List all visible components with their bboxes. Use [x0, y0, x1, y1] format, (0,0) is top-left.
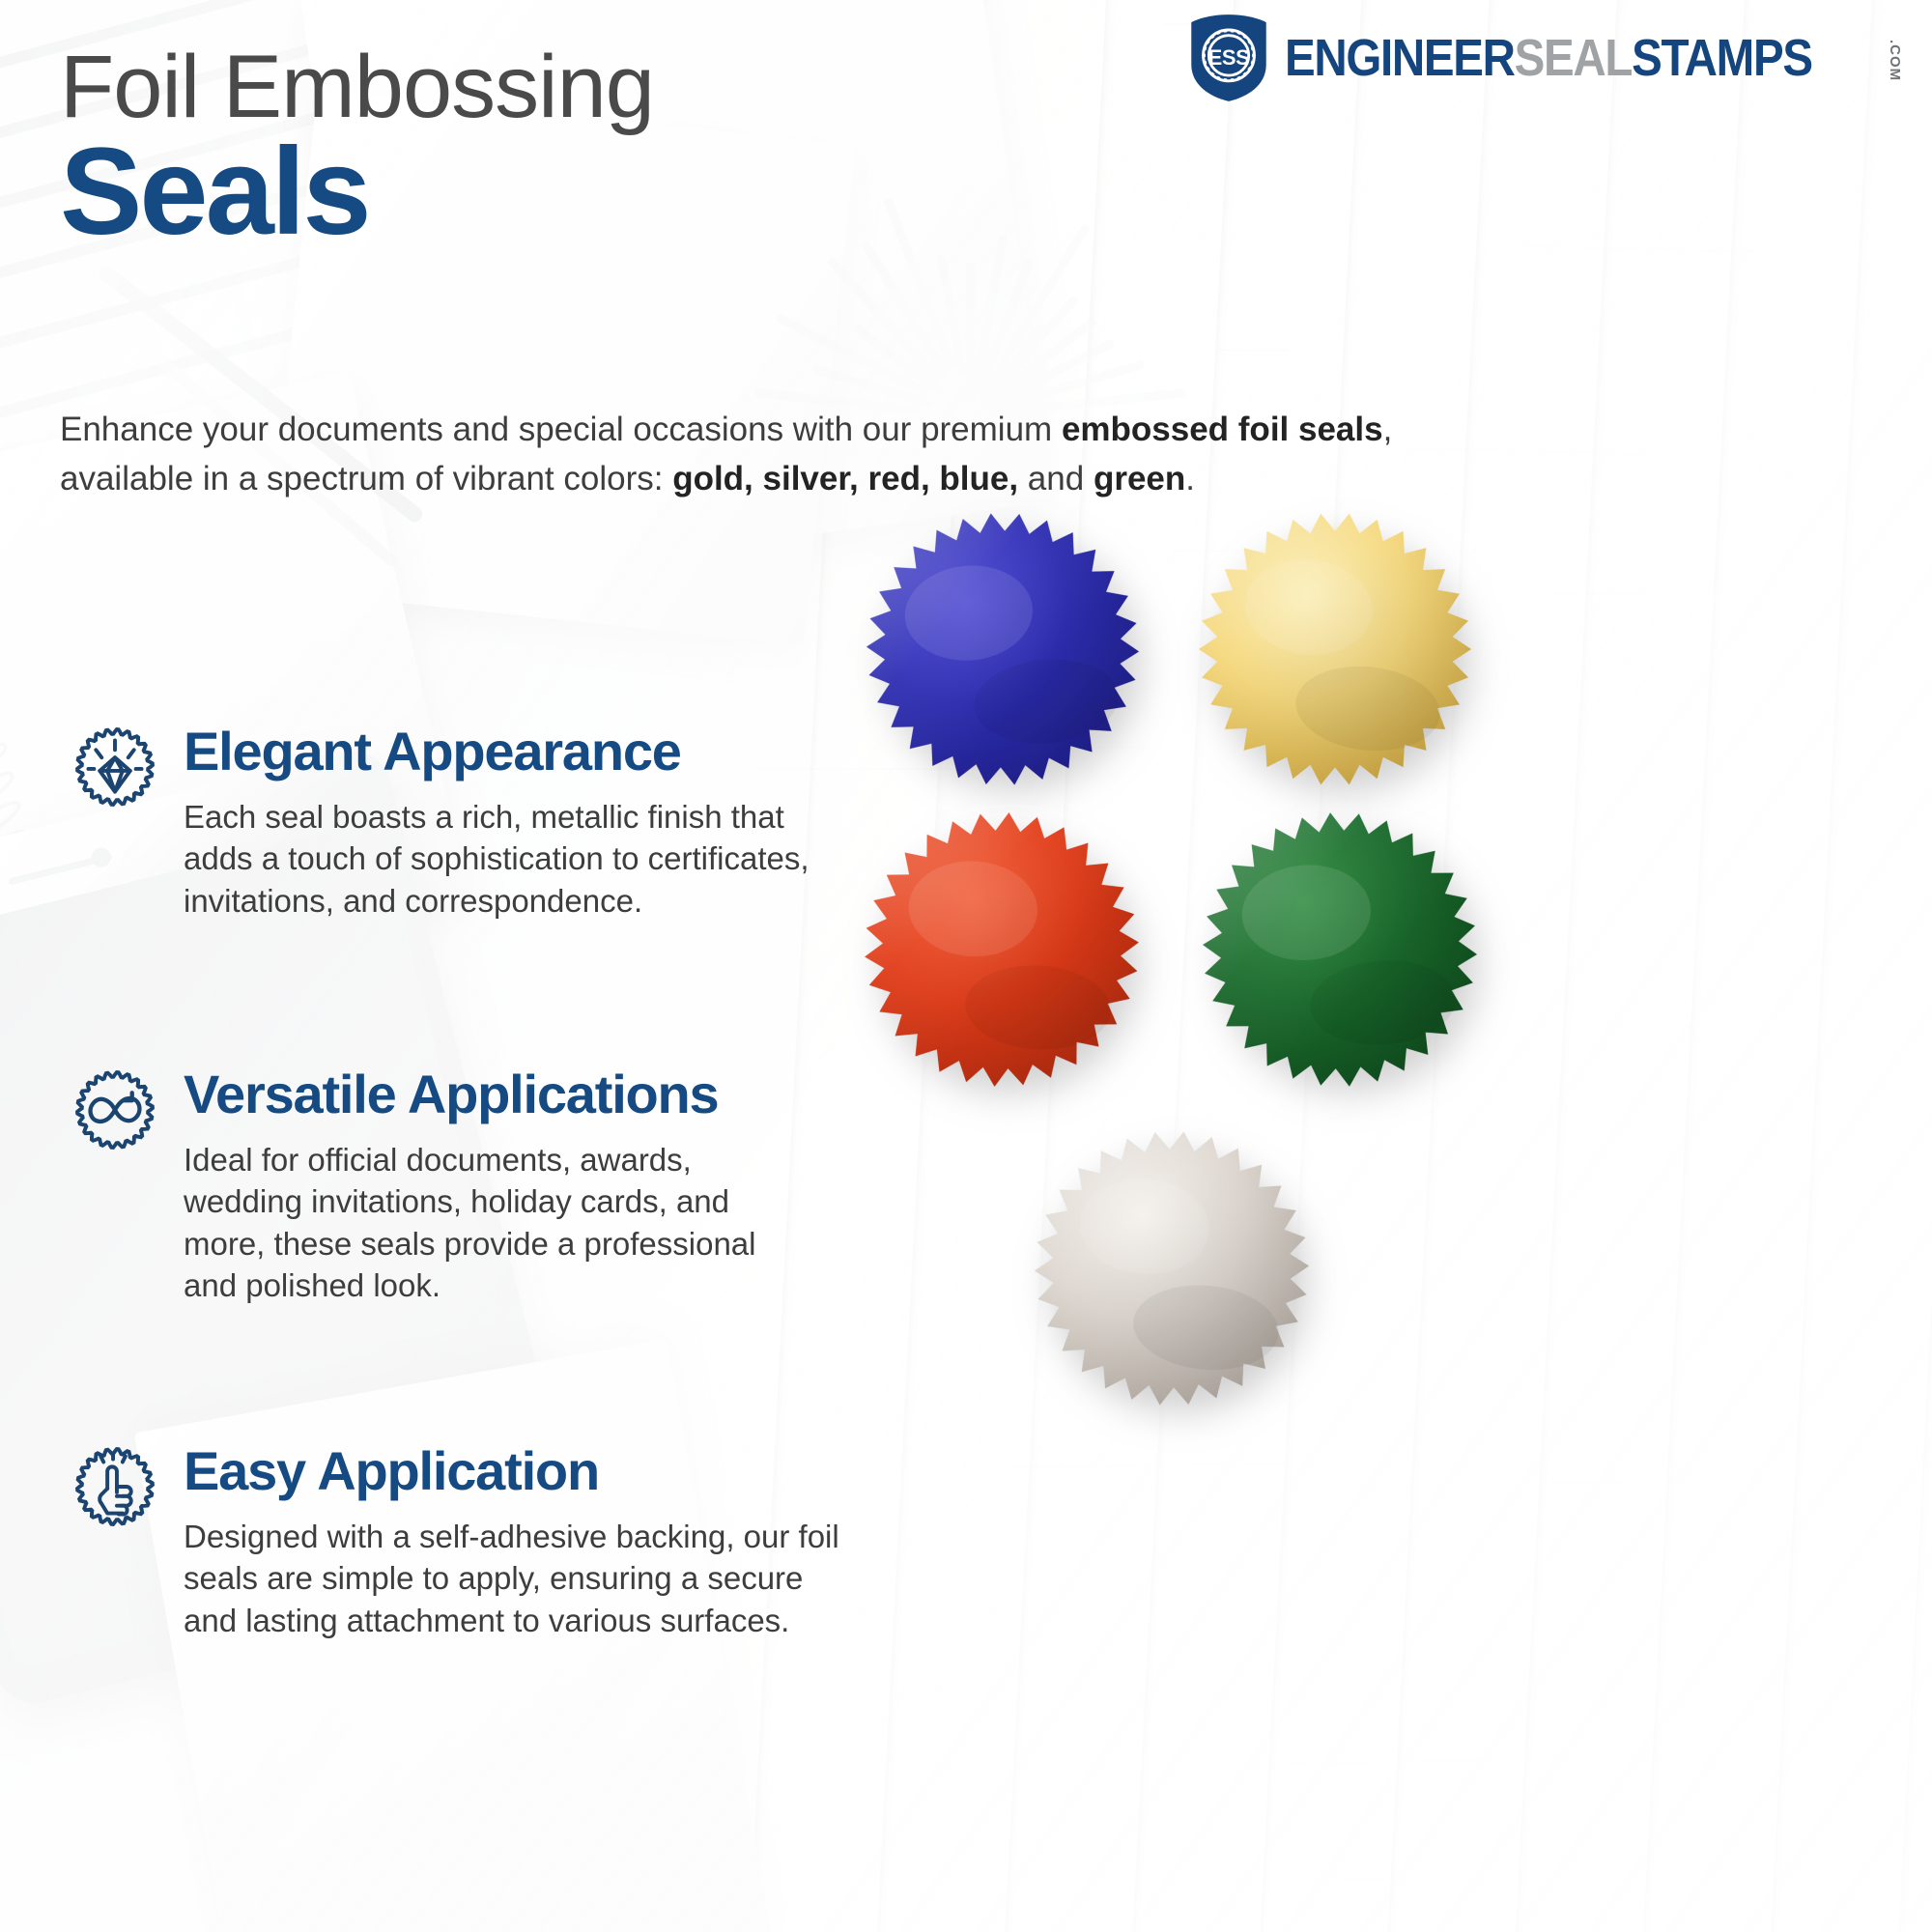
seal-disc-blue — [837, 497, 1169, 802]
seal-disc-red — [836, 802, 1169, 1098]
feature-body: Versatile Applications Ideal for officia… — [184, 1066, 869, 1307]
seal-green — [1171, 799, 1508, 1100]
logo-word-seal: SEAL — [1515, 29, 1632, 87]
brand-wordmark: ENGINEERSEALSTAMPS .COM — [1285, 32, 1903, 84]
diamond-icon — [58, 710, 172, 824]
page-title-line1: Foil Embossing — [60, 43, 654, 131]
brand-logo[interactable]: ESS ENGINEERSEALSTAMPS .COM — [1186, 14, 1903, 102]
logo-tld: .COM — [1887, 40, 1903, 81]
feature-heading: Elegant Appearance — [184, 724, 869, 781]
page-title-line2: Seals — [60, 130, 369, 254]
feature-elegant-appearance: Elegant Appearance Each seal boasts a ri… — [58, 710, 869, 922]
seal-disc-green — [1171, 799, 1508, 1100]
seal-disc-gold — [1167, 495, 1503, 804]
feature-body: Easy Application Designed with a self-ad… — [184, 1443, 869, 1641]
feature-body: Elegant Appearance Each seal boasts a ri… — [184, 724, 869, 922]
feature-heading: Easy Application — [184, 1443, 869, 1500]
intro-text-3: and — [1018, 460, 1094, 497]
svg-text:ESS: ESS — [1208, 45, 1250, 70]
intro-text-4: . — [1185, 460, 1195, 497]
logo-word-stamps: STAMPS — [1632, 29, 1812, 87]
feature-easy-application: Easy Application Designed with a self-ad… — [58, 1430, 869, 1641]
feature-versatile-applications: Versatile Applications Ideal for officia… — [58, 1053, 869, 1307]
logo-word-engineer: ENGINEER — [1285, 29, 1515, 87]
tap-hand-icon — [58, 1430, 172, 1544]
seal-blue — [837, 497, 1169, 802]
intro-bold-embossed-foil-seals: embossed foil seals — [1062, 411, 1383, 448]
infinity-icon — [58, 1053, 172, 1167]
ess-gear-badge-icon: ESS — [1186, 14, 1271, 102]
intro-bold-green: green — [1094, 460, 1185, 497]
feature-heading: Versatile Applications — [184, 1066, 869, 1123]
intro-paragraph: Enhance your documents and special occas… — [60, 406, 1432, 504]
seal-red — [836, 802, 1169, 1098]
feature-text: Designed with a self-adhesive backing, o… — [184, 1516, 869, 1642]
intro-bold-colors: gold, silver, red, blue, — [672, 460, 1018, 497]
seal-gold — [1167, 495, 1503, 804]
seal-silver — [1001, 1115, 1343, 1422]
feature-text: Ideal for official documents, awards, we… — [184, 1139, 869, 1307]
feature-text: Each seal boasts a rich, metallic finish… — [184, 796, 869, 923]
seal-disc-silver — [1001, 1115, 1343, 1422]
intro-text-1: Enhance your documents and special occas… — [60, 411, 1062, 448]
